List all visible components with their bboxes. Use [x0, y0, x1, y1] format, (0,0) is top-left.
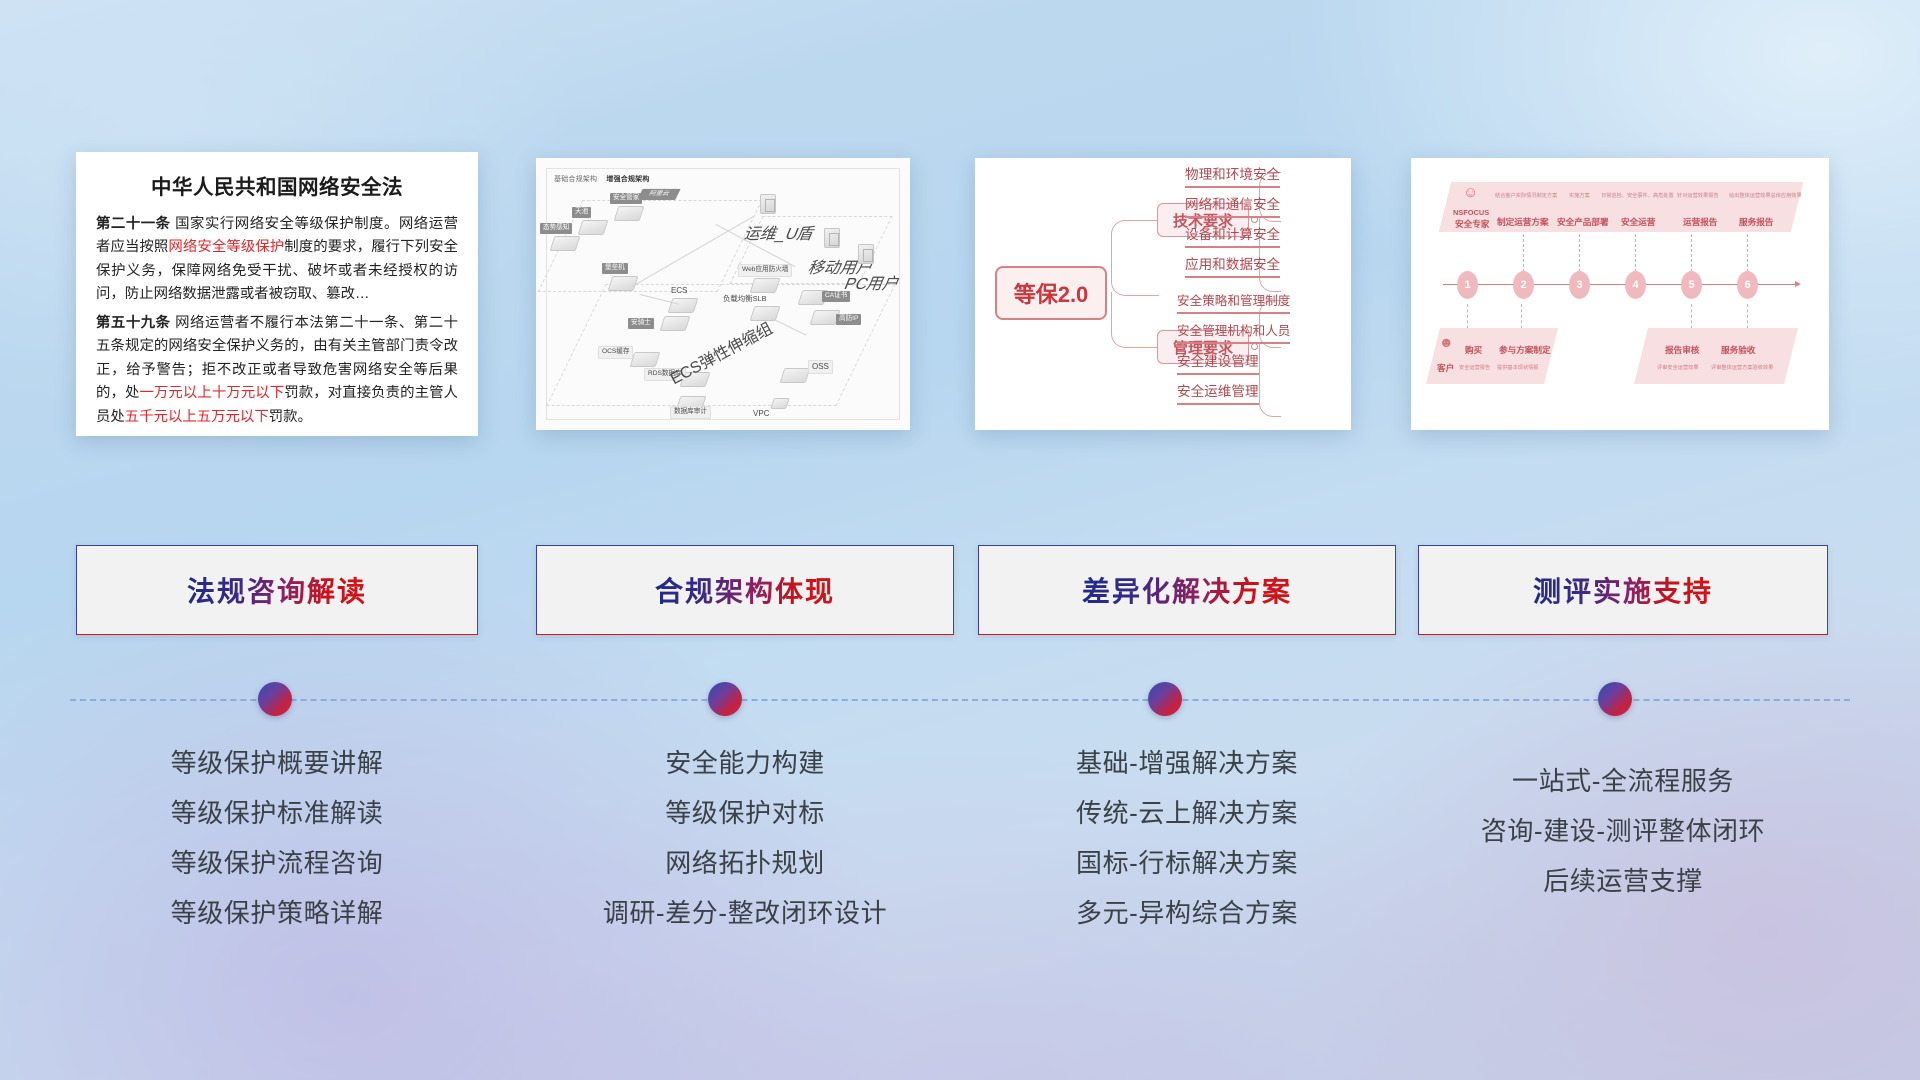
mindmap-leaf-operation-mgmt: 安全运维管理: [1177, 380, 1259, 405]
pillar-label: 测评实施支持: [1533, 570, 1713, 610]
node-security-manager: 安全管家: [616, 206, 642, 221]
law-title: 中华人民共和国网络安全法: [96, 170, 458, 200]
pillar-label: 差异化解决方案: [1082, 570, 1292, 610]
bottom-step-title-2: 参与方案制定: [1499, 344, 1551, 356]
node-label: 堡垒机: [602, 263, 628, 274]
architecture-tabs: 基础合规架构 增强合规架构: [554, 174, 657, 184]
timeline-dot-2[interactable]: [708, 682, 742, 716]
dash-connector: [1635, 234, 1636, 272]
cloud-label-tag: 阿里云: [637, 189, 680, 200]
law-content: 中华人民共和国网络安全法 第二十一条 国家实行网络安全等级保护制度。网络运营者应…: [76, 152, 478, 436]
node-label: ECS: [668, 285, 690, 297]
node-cube: [750, 278, 781, 293]
connector-management-lower: [1259, 343, 1281, 417]
node-ecs: ECS: [670, 298, 696, 313]
node-label: 数据库审计: [670, 406, 711, 419]
list-item: 安全能力构建: [536, 750, 954, 776]
connector-root-to-management: [1111, 292, 1159, 348]
cards-row: 中华人民共和国网络安全法 第二十一条 国家实行网络安全等级保护制度。网络运营者应…: [0, 150, 1920, 450]
process-canvas: ☺ NSFOCUS 安全专家 结合客户实际情况制定方案 制定运营方案 实施方案 …: [1411, 158, 1829, 430]
dash-connector: [1523, 234, 1524, 272]
process-step-6[interactable]: 6: [1737, 271, 1758, 299]
node-pc-user: [858, 244, 874, 264]
band-customer-right: [1634, 328, 1798, 384]
node-vpc: VPC: [772, 398, 788, 409]
node-bastion-host: 堡垒机: [610, 276, 636, 291]
pillar-label: 合规架构体现: [655, 570, 835, 610]
top-step-sub-2: 实施方案: [1569, 192, 1590, 199]
card-mindmap[interactable]: 等保2.0 技术要求 管理要求 物理和环境安全 网络和通信安全 设备和计算安全 …: [975, 158, 1351, 430]
customer-person-icon: ☻: [1439, 334, 1454, 350]
list-item: 一站式-全流程服务: [1418, 768, 1828, 794]
article-59-highlight-2: 五千元以上五万元以下: [125, 409, 269, 425]
node-label: Web应用防火墙: [738, 264, 792, 277]
list-item: 基础-增强解决方案: [978, 750, 1396, 776]
slide-canvas: 中华人民共和国网络安全法 第二十一条 国家实行网络安全等级保护制度。网络运营者应…: [0, 0, 1920, 1080]
node-cube: [780, 368, 811, 383]
node-database-audit: 数据库审计: [678, 396, 704, 411]
process-step-4[interactable]: 4: [1625, 271, 1646, 299]
top-step-title-2: 安全产品部署: [1557, 216, 1609, 228]
list-item: 等级保护流程咨询: [76, 850, 478, 876]
bottom-step-title-3: 报告审核: [1665, 344, 1699, 356]
tab-basic-architecture[interactable]: 基础合规架构: [554, 176, 597, 183]
node-label: 高防IP: [836, 314, 861, 325]
node-mobile-user: [824, 228, 840, 248]
detail-lists-row: 等级保护概要讲解 等级保护标准解读 等级保护流程咨询 等级保护策略详解 安全能力…: [0, 740, 1920, 960]
timeline-dot-4[interactable]: [1598, 682, 1632, 716]
article-59-label: 第五十九条: [96, 315, 171, 331]
node-ca-certificate: CA证书: [800, 290, 826, 305]
node-label: 安骑士: [628, 318, 654, 329]
bottom-step-sub-4: 评审整体运营方案验收效果: [1711, 364, 1773, 371]
list-item: 等级保护策略详解: [76, 900, 478, 926]
expert-brand: NSFOCUS: [1453, 208, 1489, 217]
detail-column-4: 一站式-全流程服务 咨询-建设-测评整体闭环 后续运营支撑: [1418, 768, 1828, 918]
bottom-step-sub-2: 提供基本现状情报: [1497, 364, 1539, 371]
mindmap-leaf-policy-system: 安全策略和管理制度: [1177, 290, 1290, 314]
node-cube: [770, 398, 790, 409]
mindmap-leaf-network-comm: 网络和通信安全: [1185, 193, 1280, 218]
top-step-title-5: 服务报告: [1739, 216, 1773, 228]
node-cube: [614, 206, 645, 221]
list-item: 咨询-建设-测评整体闭环: [1418, 818, 1828, 844]
article-59-text-c: 罚款。: [269, 409, 312, 425]
timeline-dot-1[interactable]: [258, 682, 292, 716]
dash-connector: [1691, 234, 1692, 272]
expert-role: 安全专家: [1455, 218, 1489, 230]
mindmap-leaf-org-personnel: 安全管理机构和人员: [1177, 320, 1290, 344]
timeline-dot-3[interactable]: [1148, 682, 1182, 716]
mindmap-root-node[interactable]: 等保2.0: [995, 266, 1107, 320]
node-cube: [668, 298, 699, 313]
node-ops-ukey: [760, 194, 776, 214]
article-59-highlight-1: 一万元以上十万元以下: [139, 385, 284, 401]
dash-connector: [1579, 234, 1580, 272]
node-cube: [550, 236, 581, 251]
node-label: 负载均衡SLB: [720, 293, 770, 304]
top-step-sub-1: 结合客户实际情况制定方案: [1495, 192, 1557, 199]
pillar-label: 法规咨询解读: [187, 570, 367, 610]
list-item: 多元-异构综合方案: [978, 900, 1396, 926]
top-step-title-4: 运营报告: [1683, 216, 1717, 228]
node-oss: OSS: [782, 368, 808, 383]
timeline-dashed-line: [70, 699, 1850, 701]
process-step-3[interactable]: 3: [1569, 271, 1590, 299]
node-label-ops-ukey: 运维_U盾: [741, 220, 819, 244]
top-step-sub-4: 针对运营效果报告: [1677, 192, 1719, 199]
list-item: 国标-行标解决方案: [978, 850, 1396, 876]
list-item: 等级保护概要讲解: [76, 750, 478, 776]
node-anqishi: 安骑士: [662, 316, 688, 331]
list-item: 传统-云上解决方案: [978, 800, 1396, 826]
architecture-canvas: 基础合规架构 增强合规架构 阿里云 态势感知: [536, 158, 910, 430]
node-cube: [578, 220, 609, 235]
mindmap-leaf-device-compute: 设备和计算安全: [1185, 223, 1280, 248]
connector-root-to-technical: [1111, 220, 1159, 296]
detail-column-2: 安全能力构建 等级保护对标 网络拓扑规划 调研-差分-整改闭环设计: [536, 750, 954, 950]
branch-dot-management[interactable]: [1251, 343, 1258, 350]
node-cube: [630, 352, 661, 367]
mindmap-leaf-physical-env: 物理和环境安全: [1185, 163, 1280, 188]
list-item: 后续运营支撑: [1418, 868, 1828, 894]
node-label: 态势感知: [540, 223, 572, 234]
card-architecture-diagram[interactable]: 基础合规架构 增强合规架构 阿里云 态势感知: [536, 158, 910, 430]
list-item: 等级保护标准解读: [76, 800, 478, 826]
node-ocs-cache: OCS缓存: [632, 352, 658, 367]
top-step-title-1: 制定运营方案: [1497, 216, 1549, 228]
node-waf: Web应用防火墙: [752, 278, 778, 293]
bottom-step-title-1: 购买: [1465, 344, 1482, 356]
mindmap-leaf-app-data: 应用和数据安全: [1185, 253, 1280, 278]
pillar-compliance-architecture[interactable]: 合规架构体现: [536, 545, 954, 635]
node-label: VPC: [750, 408, 772, 420]
bottom-step-title-4: 服务验收: [1721, 344, 1755, 356]
node-label: OCS缓存: [598, 346, 633, 359]
pillar-assessment-support[interactable]: 测评实施支持: [1418, 545, 1828, 635]
expert-person-icon: ☺: [1463, 184, 1478, 201]
list-item: 网络拓扑规划: [536, 850, 954, 876]
customer-role: 客户: [1437, 362, 1454, 374]
pillar-differentiated-solution[interactable]: 差异化解决方案: [978, 545, 1396, 635]
law-article-21: 第二十一条 国家实行网络安全等级保护制度。网络运营者应当按照网络安全等级保护制度…: [96, 213, 458, 307]
detail-column-3: 基础-增强解决方案 传统-云上解决方案 国标-行标解决方案 多元-异构综合方案: [978, 750, 1396, 950]
node-label: 天池: [572, 207, 591, 218]
article-21-label: 第二十一条: [96, 216, 171, 232]
node-cube: [660, 316, 691, 331]
bottom-step-sub-3: 评审安全运营效果: [1657, 364, 1699, 371]
card-service-process[interactable]: ☺ NSFOCUS 安全专家 结合客户实际情况制定方案 制定运营方案 实施方案 …: [1411, 158, 1829, 430]
article-21-highlight: 网络安全等级保护: [168, 239, 284, 255]
pillar-regulation-consulting[interactable]: 法规咨询解读: [76, 545, 478, 635]
card-law-text[interactable]: 中华人民共和国网络安全法 第二十一条 国家实行网络安全等级保护制度。网络运营者应…: [76, 152, 478, 436]
detail-column-1: 等级保护概要讲解 等级保护标准解读 等级保护流程咨询 等级保护策略详解: [76, 750, 478, 950]
timeline: [0, 690, 1920, 710]
dash-connector: [1747, 234, 1748, 272]
mindmap-canvas: 等保2.0 技术要求 管理要求 物理和环境安全 网络和通信安全 设备和计算安全 …: [975, 158, 1351, 430]
pillars-row: 法规咨询解读 合规架构体现 差异化解决方案 测评实施支持: [0, 545, 1920, 645]
top-step-sub-3: 日常巡检、安全事件、高危处置: [1601, 192, 1674, 199]
list-item: 等级保护对标: [536, 800, 954, 826]
bottom-step-sub-1: 安全运营报告: [1459, 364, 1490, 371]
top-step-title-3: 安全运营: [1621, 216, 1655, 228]
process-step-2[interactable]: 2: [1513, 271, 1534, 299]
mindmap-leaf-construction-mgmt: 安全建设管理: [1177, 350, 1259, 375]
tab-enhanced-architecture[interactable]: 增强合规架构: [606, 176, 649, 183]
process-step-1[interactable]: 1: [1457, 271, 1478, 299]
node-label: 安全管家: [610, 193, 642, 204]
list-item: 调研-差分-整改闭环设计: [536, 900, 954, 926]
process-step-5[interactable]: 5: [1681, 271, 1702, 299]
node-label-pc-user: PC用户: [841, 270, 905, 294]
node-situational-awareness: 态势感知: [552, 236, 578, 251]
top-step-sub-5: 给出整体运营效果总体应用效果: [1729, 192, 1802, 199]
node-label: OSS: [808, 360, 833, 374]
axis-arrow-icon: [1795, 281, 1801, 287]
node-tianchi: 天池: [580, 220, 606, 235]
node-anti-ddos-ip: 高防IP: [812, 310, 838, 325]
law-article-59: 第五十九条 网络运营者不履行本法第二十一条、第二十五条规定的网络安全保护义务的，…: [96, 312, 458, 429]
